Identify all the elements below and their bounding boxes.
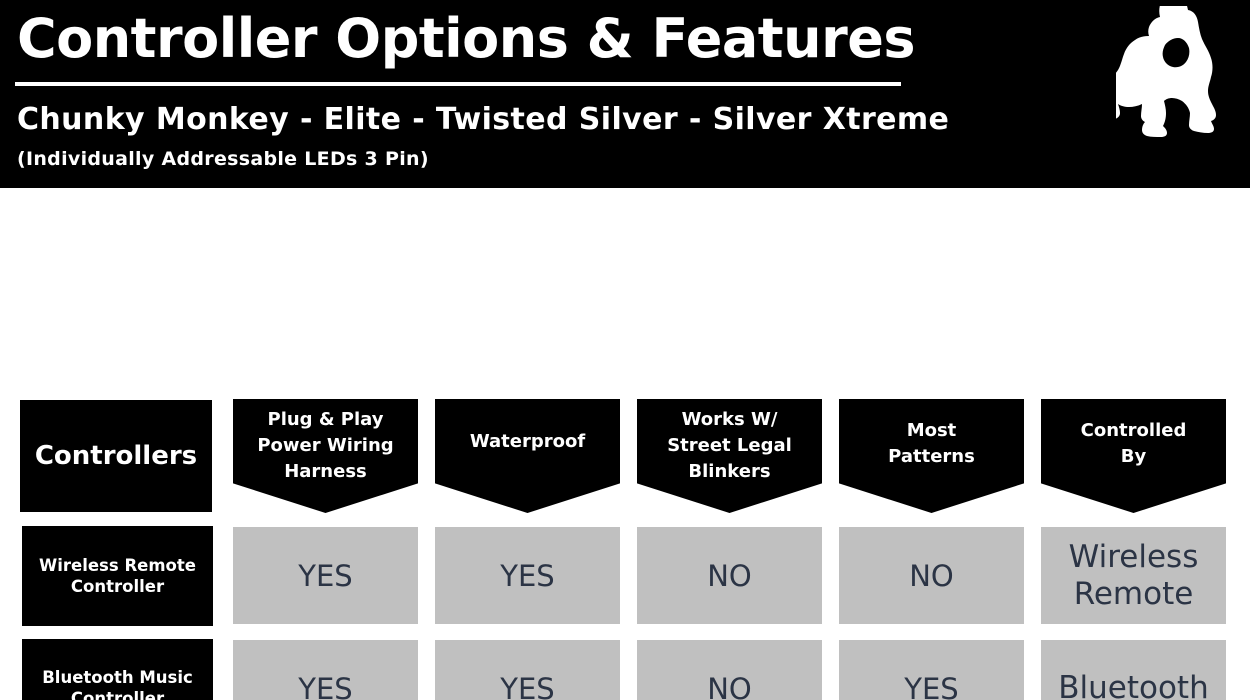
- cell-value: NO: [707, 559, 752, 593]
- column-header-controllers: Controllers: [20, 400, 212, 512]
- cell-value: YES: [298, 672, 352, 700]
- controller-comparison-page: Controller Options & Features Chunky Mon…: [0, 0, 1250, 700]
- column-header-label: Plug & Play Power Wiring Harness: [257, 407, 393, 485]
- column-header-controlled-by: Controlled By: [1041, 399, 1226, 513]
- row-label-wireless-remote-controller: Wireless Remote Controller: [22, 526, 213, 626]
- comparison-table: Controllers Plug & Play Power Wiring Har…: [0, 188, 1250, 700]
- cell-value: YES: [500, 672, 554, 700]
- product-lineup-subtitle: Chunky Monkey - Elite - Twisted Silver -…: [17, 100, 949, 140]
- cell-bluetooth-music-waterproof: YES: [435, 640, 620, 700]
- cell-value: NO: [909, 559, 954, 593]
- cell-bluetooth-music-most-patterns: YES: [839, 640, 1024, 700]
- column-header-label: Waterproof: [470, 429, 585, 455]
- row-label-text: Wireless Remote Controller: [28, 555, 207, 597]
- column-header-label: Controlled By: [1081, 418, 1187, 470]
- cell-value: YES: [298, 559, 352, 593]
- column-header-label: Works W/ Street Legal Blinkers: [667, 407, 792, 485]
- cell-bluetooth-music-plug-and-play: YES: [233, 640, 418, 700]
- cell-wireless-remote-controlled-by: Wireless Remote: [1041, 527, 1226, 624]
- cell-bluetooth-music-controlled-by: Bluetooth: [1041, 640, 1226, 700]
- led-spec-note: (Individually Addressable LEDs 3 Pin): [17, 146, 429, 172]
- cell-wireless-remote-street-legal-blinkers: NO: [637, 527, 822, 624]
- gorilla-logo-icon: [1116, 6, 1244, 150]
- cell-bluetooth-music-street-legal-blinkers: NO: [637, 640, 822, 700]
- cell-wireless-remote-waterproof: YES: [435, 527, 620, 624]
- column-header-plug-and-play-power-wiring-harness: Plug & Play Power Wiring Harness: [233, 399, 418, 513]
- cell-wireless-remote-plug-and-play: YES: [233, 527, 418, 624]
- cell-wireless-remote-most-patterns: NO: [839, 527, 1024, 624]
- cell-value: NO: [707, 672, 752, 700]
- column-header-label: Most Patterns: [888, 418, 975, 470]
- page-header: Controller Options & Features Chunky Mon…: [0, 0, 1250, 188]
- column-header-label: Controllers: [35, 441, 197, 471]
- cell-value: Bluetooth: [1058, 670, 1209, 700]
- page-title: Controller Options & Features: [17, 5, 917, 73]
- column-header-works-with-street-legal-blinkers: Works W/ Street Legal Blinkers: [637, 399, 822, 513]
- column-header-waterproof: Waterproof: [435, 399, 620, 513]
- title-divider: [15, 82, 901, 86]
- cell-value: Wireless Remote: [1041, 539, 1226, 613]
- column-header-most-patterns: Most Patterns: [839, 399, 1024, 513]
- row-label-text: Bluetooth Music Controller: [28, 667, 207, 700]
- row-label-bluetooth-music-controller: Bluetooth Music Controller: [22, 639, 213, 700]
- cell-value: YES: [904, 672, 958, 700]
- cell-value: YES: [500, 559, 554, 593]
